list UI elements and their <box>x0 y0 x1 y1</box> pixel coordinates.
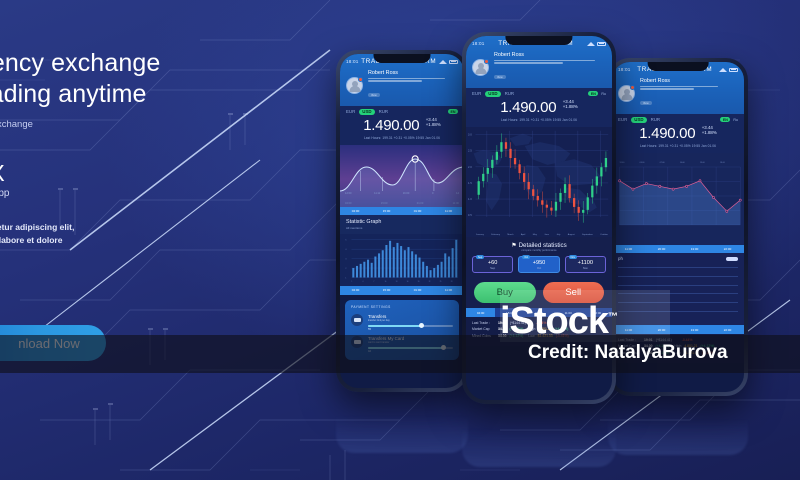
table-row: Mined Coins 34.00 (+4.12%) Low $1.421.33… <box>472 334 606 338</box>
month-9: October <box>600 234 608 236</box>
center-timebar[interactable]: 04:00 15:00 01:00 11:00 22:00 <box>466 308 612 316</box>
left-status-time: 18:01 <box>346 59 359 64</box>
right-timebar2-3[interactable]: 22:00 <box>711 325 744 333</box>
center-price-block: 1.490.00 +3.44 +1.88% Last Hours: 199.31… <box>466 97 612 127</box>
month-2: March <box>507 234 513 236</box>
right-row1-key2: High <box>674 344 681 348</box>
currency-eur[interactable]: EUR <box>472 91 481 96</box>
right-currency-row[interactable]: EUR USD RUR EN Ru <box>612 114 744 123</box>
download-now-button[interactable]: nload Now <box>0 325 106 361</box>
transfers-my-card-slider[interactable] <box>368 347 453 349</box>
svg-text:19: 19 <box>418 281 420 283</box>
row2-change2: (-1.41%) <box>556 334 569 338</box>
stat-month-sep: Sep <box>474 266 511 270</box>
grid-label-1: 15:00 <box>381 202 388 205</box>
right-last-hours: Last Hours: 199.31 +0.31 +0.05% 19:55 Ja… <box>618 144 738 148</box>
table-row: Market Cap 34.00 (+4.12%) High 4.801.21 … <box>618 344 738 348</box>
right-row2-value2: $1.421.33 <box>684 351 699 355</box>
left-user-profile[interactable]: Robert Ross View <box>346 70 458 101</box>
row2-key2: Low <box>528 334 534 338</box>
right-row1-key: Market Cap <box>618 344 641 348</box>
left-user-chip[interactable]: View <box>368 93 380 97</box>
center-timebar-0[interactable]: 04:00 <box>466 308 495 316</box>
left-timebar-2[interactable]: 01:00 <box>402 207 433 215</box>
wave-label-3: 0 <box>432 192 433 195</box>
right-user-chip[interactable]: View <box>640 101 652 105</box>
month-4: May <box>533 234 537 236</box>
statistic-graph-title: Statistic Graph <box>346 219 458 225</box>
row2-key: Mined Coins <box>472 334 495 338</box>
right-timebar-2[interactable]: 13:00 <box>678 245 711 253</box>
left-user-name: Robert Ross <box>368 70 458 76</box>
stat-month-nov: Nov <box>567 266 604 270</box>
right-user-profile[interactable]: Robert Ross View <box>618 78 738 109</box>
sell-button[interactable]: Sell <box>543 282 605 303</box>
center-status-icons <box>587 42 606 46</box>
right-delta-pct: +1.88% <box>702 130 717 136</box>
stat-tag-sep: Sep <box>476 255 484 259</box>
svg-text:13:00: 13:00 <box>700 162 705 164</box>
row0-change: -0.44% <box>536 321 547 325</box>
center-last-hours: Last Hours: 199.31 +0.31 +0.05% 19:55 Ja… <box>472 118 606 122</box>
headline-line-1: urrency exchange <box>0 49 160 77</box>
right-status-time: 18:01 <box>618 67 631 72</box>
right-row0-key: Last Trade : <box>618 338 641 342</box>
currency-eur[interactable]: EUR <box>618 117 627 122</box>
statistic-graph-sub: All mentions <box>346 226 458 230</box>
right-graph-pill[interactable] <box>726 257 738 261</box>
row0-value: 19:01 <box>498 321 507 325</box>
left-bar-chart[interactable]: 5432114710131619222528 <box>340 234 464 286</box>
phone-left[interactable]: 18:01 TRADING PLATFORM Robert Ross <box>336 50 468 392</box>
transfers-my-card-desc: card to card transfer <box>368 341 453 344</box>
payment-settings-title: PAYMENT SETTINGS <box>351 305 453 309</box>
wifi-icon <box>719 68 727 72</box>
month-1: February <box>491 234 500 236</box>
left-wave-labels: 12:00 11:11 16:00 0 14 <box>340 192 464 195</box>
left-price-value: 1.490.00 <box>363 117 419 134</box>
right-timebar[interactable]: 11:00 20:00 13:00 22:00 <box>612 245 744 253</box>
center-user-profile[interactable]: Robert Ross View <box>472 52 606 83</box>
candlestick-chart[interactable]: 3.02.52.0 1.51.00.5 January February Mar… <box>466 127 612 237</box>
right-row2-change: (+4.12%) <box>656 351 670 355</box>
right-timebar-1[interactable]: 20:00 <box>645 245 678 253</box>
month-5: June <box>544 234 549 236</box>
center-user-chip[interactable]: View <box>494 75 506 79</box>
currency-rur[interactable]: RUR <box>379 109 389 114</box>
table-row: Market Cap 34.00 (+4.12%) High 4.801.21 … <box>472 327 606 331</box>
center-price-value: 1.490.00 <box>500 99 556 116</box>
row1-value2: 4.801.21 <box>538 327 551 331</box>
right-row1-change: (+4.12%) <box>656 344 670 348</box>
buy-button[interactable]: Buy <box>474 282 536 303</box>
divider-line <box>618 267 738 268</box>
divider-line <box>618 302 738 303</box>
month-0: January <box>476 234 484 236</box>
language-ru[interactable]: Ru <box>601 92 606 96</box>
stat-card-sep[interactable]: Sep +60 Sep <box>472 256 513 273</box>
right-timebar2-1[interactable]: 20:00 <box>645 325 678 333</box>
svg-text:03:00: 03:00 <box>640 162 645 164</box>
left-timebar[interactable]: 04:00 15:00 01:00 11:00 <box>340 207 464 215</box>
center-price-delta: +3.44 +1.88% <box>563 99 578 110</box>
divider-line <box>618 285 738 286</box>
left-user-bars <box>368 78 458 82</box>
phone-right[interactable]: 18:01 TRADING PLATFORM Robert Ross <box>608 58 748 396</box>
left-price-delta: +3.44 +1.88% <box>426 117 441 128</box>
phone-center-screen: 18:01 TRADING PLATFORM Robert Ross <box>466 36 612 400</box>
table-row: Last Trade : 19:01 (^$144.41) -0.44% <box>618 338 738 342</box>
left-statistic-header: Statistic Graph All mentions <box>340 215 464 234</box>
row1-value: 34.00 <box>498 327 507 331</box>
divider-line <box>618 293 738 294</box>
stat-cards-row: Sep +60 Sep Oct +950 Oct Nov +1100 Nov <box>466 256 612 273</box>
currency-eur[interactable]: EUR <box>346 109 355 114</box>
right-row1-value: 34.00 <box>644 344 653 348</box>
left-timebar-1[interactable]: 15:00 <box>371 207 402 215</box>
svg-text:5: 5 <box>345 240 346 242</box>
svg-text:4: 4 <box>345 249 346 251</box>
notification-badge-icon <box>484 59 489 64</box>
currency-rur[interactable]: RUR <box>505 91 515 96</box>
right-graph-head: ph <box>612 253 744 261</box>
right-timebar-2[interactable]: 11:00 20:00 13:00 22:00 <box>612 325 744 333</box>
transfers-value: 55 <box>368 328 453 331</box>
wave-label-4: 14 <box>456 192 459 195</box>
center-delta-pct: +1.88% <box>563 104 578 110</box>
phone-left-screen: 18:01 TRADING PLATFORM Robert Ross <box>340 54 464 388</box>
headline-line-2: , trading anytime <box>0 79 290 110</box>
language-en[interactable]: EN <box>588 91 598 96</box>
stat-tag-oct: Oct <box>522 255 530 259</box>
left-last-hours: Last Hours: 199.31 +0.31 +0.05% 19:55 Ja… <box>346 136 458 140</box>
grid-label-0: 04:00 <box>345 202 352 205</box>
svg-text:25: 25 <box>440 281 442 283</box>
right-user-bars <box>640 86 738 90</box>
divider-line <box>618 311 738 312</box>
hero-paragraph-line-2: didunt ut labore et dolore <box>0 234 290 247</box>
grid-label-3: 11:00 <box>453 202 459 205</box>
right-timebar2-0[interactable]: 11:00 <box>612 325 645 333</box>
language-ru[interactable]: Ru <box>733 118 738 122</box>
poster-background: urrency exchange , trading anytime ons f… <box>0 0 800 480</box>
wifi-icon <box>439 60 447 64</box>
svg-text:1: 1 <box>345 278 346 280</box>
right-graph-label: ph <box>618 256 623 261</box>
center-stats-table: Last Trade : 19:01 (^$144.41) -0.44% Mar… <box>466 317 612 346</box>
month-3: April <box>521 234 525 236</box>
right-row1-change2: (+4.12%) <box>701 344 715 348</box>
battery-icon <box>729 68 738 72</box>
row1-change: (+4.12%) <box>510 327 524 331</box>
svg-text:18:00: 18:00 <box>720 162 725 164</box>
right-timebar-3[interactable]: 22:00 <box>711 245 744 253</box>
row1-change2: (+4.12%) <box>555 327 569 331</box>
row2-value2: $1.421.33 <box>538 334 553 338</box>
left-timebar-3[interactable]: 11:00 <box>433 207 464 215</box>
right-row0-value: 19:01 <box>644 338 653 342</box>
divider-line <box>618 276 738 277</box>
reflection-left <box>336 393 468 453</box>
month-8: September <box>582 234 593 236</box>
wave-label-1: 11:11 <box>374 192 380 195</box>
row1-key2: High <box>528 327 535 331</box>
svg-text:13: 13 <box>396 281 398 283</box>
candlestick-month-labels: January February March April May June Ju… <box>476 234 608 236</box>
grid-label-2: 01:00 <box>417 202 424 205</box>
center-timebar-4[interactable]: 22:00 <box>583 308 612 316</box>
month-6: July <box>556 234 560 236</box>
left-wave-chart[interactable]: 12:00 11:11 16:00 0 14 04:00 15:00 01:00… <box>340 145 464 207</box>
hero-copy: urrency exchange , trading anytime ons f… <box>0 48 290 247</box>
right-row0-change: -0.44% <box>682 338 693 342</box>
svg-text:1: 1 <box>351 281 352 283</box>
transfers-slider[interactable] <box>368 325 453 327</box>
right-price-delta: +3.44 +1.88% <box>702 125 717 136</box>
svg-text:22: 22 <box>429 281 431 283</box>
svg-text:12:00: 12:00 <box>620 162 625 164</box>
language-en[interactable]: EN <box>448 109 458 114</box>
svg-text:3: 3 <box>345 259 346 261</box>
detailed-statistics-text: Detailed statistics <box>519 242 567 249</box>
avatar <box>472 59 489 76</box>
hero-paragraph: , consectetur adipiscing elit, didunt ut… <box>0 221 290 247</box>
row2-value: 34.00 <box>498 334 507 338</box>
right-price-value: 1.490.00 <box>639 125 695 142</box>
stat-card-nov[interactable]: Nov +1100 Nov <box>565 256 606 273</box>
table-row: Last Trade : 19:01 (^$144.41) -0.44% <box>472 321 606 325</box>
row0-extra: (^$144.41) <box>510 321 533 325</box>
center-timebar-3[interactable]: 11:00 <box>554 308 583 316</box>
right-row2-value: 34.00 <box>644 351 653 355</box>
svg-text:28: 28 <box>451 281 453 283</box>
payment-settings-card: PAYMENT SETTINGS Transfers transfer limi… <box>345 300 459 360</box>
left-price-block: 1.490.00 +3.44 +1.88% Last Hours: 199.31… <box>340 115 464 145</box>
center-currency-row[interactable]: EUR USD RUR EN Ru <box>466 88 612 97</box>
svg-text:10: 10 <box>385 281 387 283</box>
battery-icon <box>449 60 458 64</box>
svg-text:7: 7 <box>374 281 375 283</box>
svg-text:16: 16 <box>407 281 409 283</box>
month-7: August <box>568 234 575 236</box>
battery-icon <box>597 42 606 46</box>
right-line-list <box>612 261 744 325</box>
center-timebar-2[interactable]: 01:00 <box>524 308 553 316</box>
right-status-icons <box>719 68 738 72</box>
transfers-my-card-value: 42 <box>368 350 453 353</box>
right-row0-extra: (^$144.41) <box>656 338 679 342</box>
notification-badge-icon <box>630 85 635 90</box>
right-row2-key2: Low <box>674 351 680 355</box>
right-stats-table: Last Trade : 19:01 (^$144.41) -0.44% Mar… <box>612 334 744 363</box>
transfers-desc: transfer limit per day <box>368 319 453 322</box>
detailed-statistics-sub: compare monthly performance <box>466 249 612 252</box>
wifi-icon <box>587 42 595 46</box>
buy-sell-row: Buy Sell <box>466 276 612 308</box>
avatar <box>346 77 363 94</box>
stat-month-oct: Oct <box>520 266 557 270</box>
left-delta-pct: +1.88% <box>426 122 441 128</box>
hero-heading-2: I/UX <box>0 160 290 187</box>
center-status-time: 18:01 <box>472 41 485 46</box>
hero-subline: ons for exchange <box>0 119 290 130</box>
language-en[interactable]: EN <box>720 117 730 122</box>
reflection-right <box>608 397 748 455</box>
notch <box>648 62 709 71</box>
stat-card-oct[interactable]: Oct +950 Oct <box>518 256 559 273</box>
center-timebar-1[interactable]: 15:00 <box>495 308 524 316</box>
right-row2-change2: (-1.41%) <box>702 351 715 355</box>
phone-right-screen: 18:01 TRADING PLATFORM Robert Ross <box>612 62 744 392</box>
wave-label-2: 16:00 <box>403 192 410 195</box>
left-wave-grid-labels: 04:00 15:00 01:00 11:00 <box>340 202 464 205</box>
row1-key: Market Cap <box>472 327 495 331</box>
payment-row-transfers-my-card[interactable]: Transfers My Card card to card transfer … <box>351 336 453 353</box>
stat-tag-nov: Nov <box>569 255 577 259</box>
svg-text:4: 4 <box>363 281 364 283</box>
card-icon <box>351 314 363 326</box>
left-currency-row[interactable]: EUR USD RUR EN <box>340 106 464 115</box>
right-timebar-0[interactable]: 11:00 <box>612 245 645 253</box>
notification-badge-icon <box>358 77 363 82</box>
flag-icon: ⚑ <box>511 242 517 249</box>
hero-heading-2-sub: Mobile App <box>0 188 290 199</box>
svg-text:2: 2 <box>345 268 346 270</box>
svg-text:10:00: 10:00 <box>680 162 685 164</box>
phone-center[interactable]: 18:01 TRADING PLATFORM Robert Ross <box>462 32 616 404</box>
currency-rur[interactable]: RUR <box>651 117 661 122</box>
right-timebar2-2[interactable]: 13:00 <box>678 325 711 333</box>
hero-paragraph-line-1: , consectetur adipiscing elit, <box>0 221 290 234</box>
left-timebar-0[interactable]: 04:00 <box>340 207 371 215</box>
reflection-center <box>462 405 616 467</box>
right-user-name: Robert Ross <box>640 78 738 84</box>
center-user-name: Robert Ross <box>494 52 606 58</box>
right-row1-value2: 4.801.21 <box>684 344 697 348</box>
right-row2-key: Mined Coins <box>618 351 641 355</box>
avatar <box>618 85 635 102</box>
left-status-icons <box>439 60 458 64</box>
row0-key: Last Trade : <box>472 321 495 325</box>
row2-change: (+4.12%) <box>510 334 524 338</box>
right-area-chart[interactable]: 12:0003:0007:0010:0013:0018:00 <box>612 153 744 245</box>
wave-label-0: 12:00 <box>345 192 352 195</box>
detailed-statistics-section: ⚑ Detailed statistics compare monthly pe… <box>466 237 612 277</box>
detailed-statistics-label[interactable]: ⚑ Detailed statistics <box>466 242 612 249</box>
hero-headline: urrency exchange , trading anytime <box>0 48 290 109</box>
card-icon <box>351 336 363 348</box>
notch <box>505 36 572 45</box>
notch <box>373 54 430 63</box>
center-user-bars <box>494 60 606 64</box>
payment-row-transfers[interactable]: Transfers transfer limit per day 55 <box>351 314 453 331</box>
right-price-block: 1.490.00 +3.44 +1.88% Last Hours: 199.31… <box>612 123 744 153</box>
table-row: Mined Coins 34.00 (+4.12%) Low $1.421.33… <box>618 351 738 355</box>
svg-text:07:00: 07:00 <box>660 162 665 164</box>
